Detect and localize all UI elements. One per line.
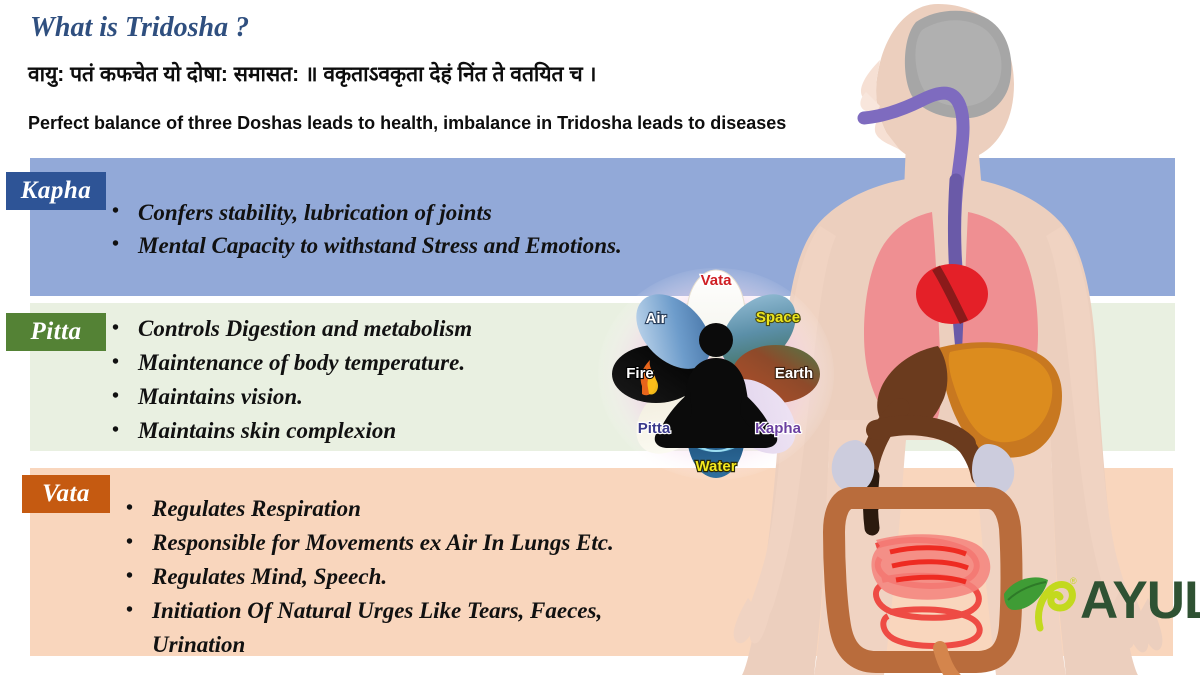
kapha-points-list: Confers stability, lubrication of joints… <box>108 196 622 262</box>
pitta-points-list: Controls Digestion and metabolism Mainte… <box>108 312 472 448</box>
flower-label-kapha: Kapha <box>755 420 802 437</box>
flower-label-space: Space <box>756 309 800 326</box>
list-item: Regulates Respiration <box>122 492 614 526</box>
flower-label-air: Air <box>646 310 667 327</box>
tridosha-slide: What is Tridosha ? वायु: पतं कफचेत यो दो… <box>0 0 1200 675</box>
flower-label-pitta: Pitta <box>638 420 671 437</box>
flower-label-water: Water <box>695 458 736 475</box>
brain-organ <box>905 11 1011 119</box>
ayulife-wordmark: AYULIFE <box>1080 574 1200 627</box>
list-item: Mental Capacity to withstand Stress and … <box>108 229 622 262</box>
dosha-label-kapha: Kapha <box>6 172 106 210</box>
ayulife-logo: ® AYULIFE <box>1000 568 1200 632</box>
leaf-sprout-icon: ® <box>1000 570 1078 632</box>
list-item: Maintains vision. <box>108 380 472 414</box>
registered-mark: ® <box>1070 576 1077 586</box>
sanskrit-shloka: वायु: पतं कफचेत यो दोषा: समासत: ॥ वकृताऽ… <box>28 60 596 88</box>
flower-label-fire: Fire <box>626 365 654 382</box>
list-item: Maintenance of body temperature. <box>108 346 472 380</box>
flower-label-vata: Vata <box>701 272 733 289</box>
list-item: Maintains skin complexion <box>108 414 472 448</box>
list-item: Responsible for Movements ex Air In Lung… <box>122 526 614 560</box>
list-item: Initiation Of Natural Urges Like Tears, … <box>122 594 614 662</box>
list-item: Regulates Mind, Speech. <box>122 560 614 594</box>
flower-label-earth: Earth <box>775 365 813 382</box>
vata-points-list: Regulates Respiration Responsible for Mo… <box>122 492 614 662</box>
five-elements-flower-diagram: Vata Space Earth Kapha Water Pitta Fire … <box>598 268 834 480</box>
page-title: What is Tridosha ? <box>30 12 249 44</box>
list-item: Confers stability, lubrication of joints <box>108 196 622 229</box>
page-subtitle: Perfect balance of three Doshas leads to… <box>28 113 786 134</box>
list-item: Controls Digestion and metabolism <box>108 312 472 346</box>
dosha-label-vata: Vata <box>22 475 110 513</box>
dosha-label-pitta: Pitta <box>6 313 106 351</box>
